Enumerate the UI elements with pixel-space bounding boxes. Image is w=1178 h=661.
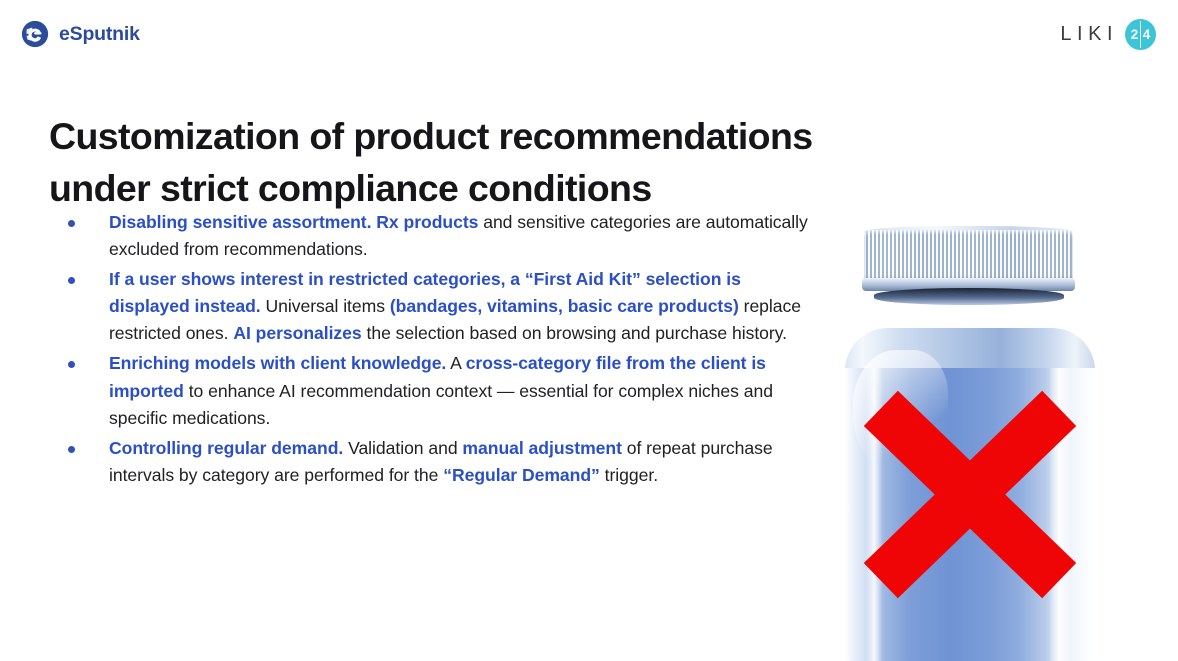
liki-wordmark: LIKI [1058,23,1118,46]
bullet-plain: to enhance AI recommendation context — e… [109,381,773,428]
bullet-dot-icon [68,220,75,227]
bullet-emphasis: Disabling sensitive assortment. Rx produ… [109,212,478,232]
bullet-plain: trigger. [600,465,658,485]
bullet-text: Controlling regular demand. Validation a… [109,438,773,485]
page-title-line-1: Customization of product recommendations [49,115,813,157]
bullet-item-enriching-models-client-knowledge: Enriching models with client knowledge. … [55,350,825,431]
liki24-brand: LIKI 2 4 [1058,19,1156,50]
medicine-bottle-illustration [820,200,1120,661]
bottle-graphic [820,200,1120,661]
bullet-item-controlling-regular-demand: Controlling regular demand. Validation a… [55,435,825,489]
bullet-text: Disabling sensitive assortment. Rx produ… [109,212,808,259]
liki-badge-divider [1140,21,1142,48]
bullet-plain: the selection based on browsing and purc… [362,323,787,343]
bullet-emphasis: “Regular Demand” [443,465,600,485]
bullet-item-disabling-sensitive-assortment: Disabling sensitive assortment. Rx produ… [55,209,825,263]
bullet-text: Enriching models with client knowledge. … [109,353,773,427]
liki24-badge-icon: 2 4 [1125,19,1156,50]
bullet-dot-icon [68,361,75,368]
bullet-emphasis: Controlling regular demand. [109,438,343,458]
red-x-icon [862,388,1078,600]
bullet-item-first-aid-kit-selection: If a user shows interest in restricted c… [55,266,825,347]
esputnik-logo-icon [20,19,50,49]
bullet-dot-icon [68,277,75,284]
bullet-emphasis: manual adjustment [462,438,621,458]
slide: eSputnik LIKI 2 4 Customization of produ… [0,0,1178,661]
bullet-plain: Universal items [261,296,390,316]
esputnik-wordmark: eSputnik [59,23,140,46]
liki-badge-digit-second: 4 [1141,28,1153,42]
esputnik-brand: eSputnik [20,19,140,49]
bullet-dot-icon [68,446,75,453]
bullet-emphasis: Enriching models with client knowledge. [109,353,446,373]
bullet-plain: Validation and [343,438,462,458]
bullet-emphasis: AI personalizes [233,323,361,343]
bullet-plain: A [446,353,465,373]
bottle-thread-ring [874,288,1064,305]
bullet-list: Disabling sensitive assortment. Rx produ… [55,209,825,492]
bottle-cap-ribbed [864,230,1073,282]
bullet-emphasis: (bandages, vitamins, basic care products… [390,296,739,316]
bullet-text: If a user shows interest in restricted c… [109,269,801,343]
liki-badge-digit-first: 2 [1129,28,1141,42]
